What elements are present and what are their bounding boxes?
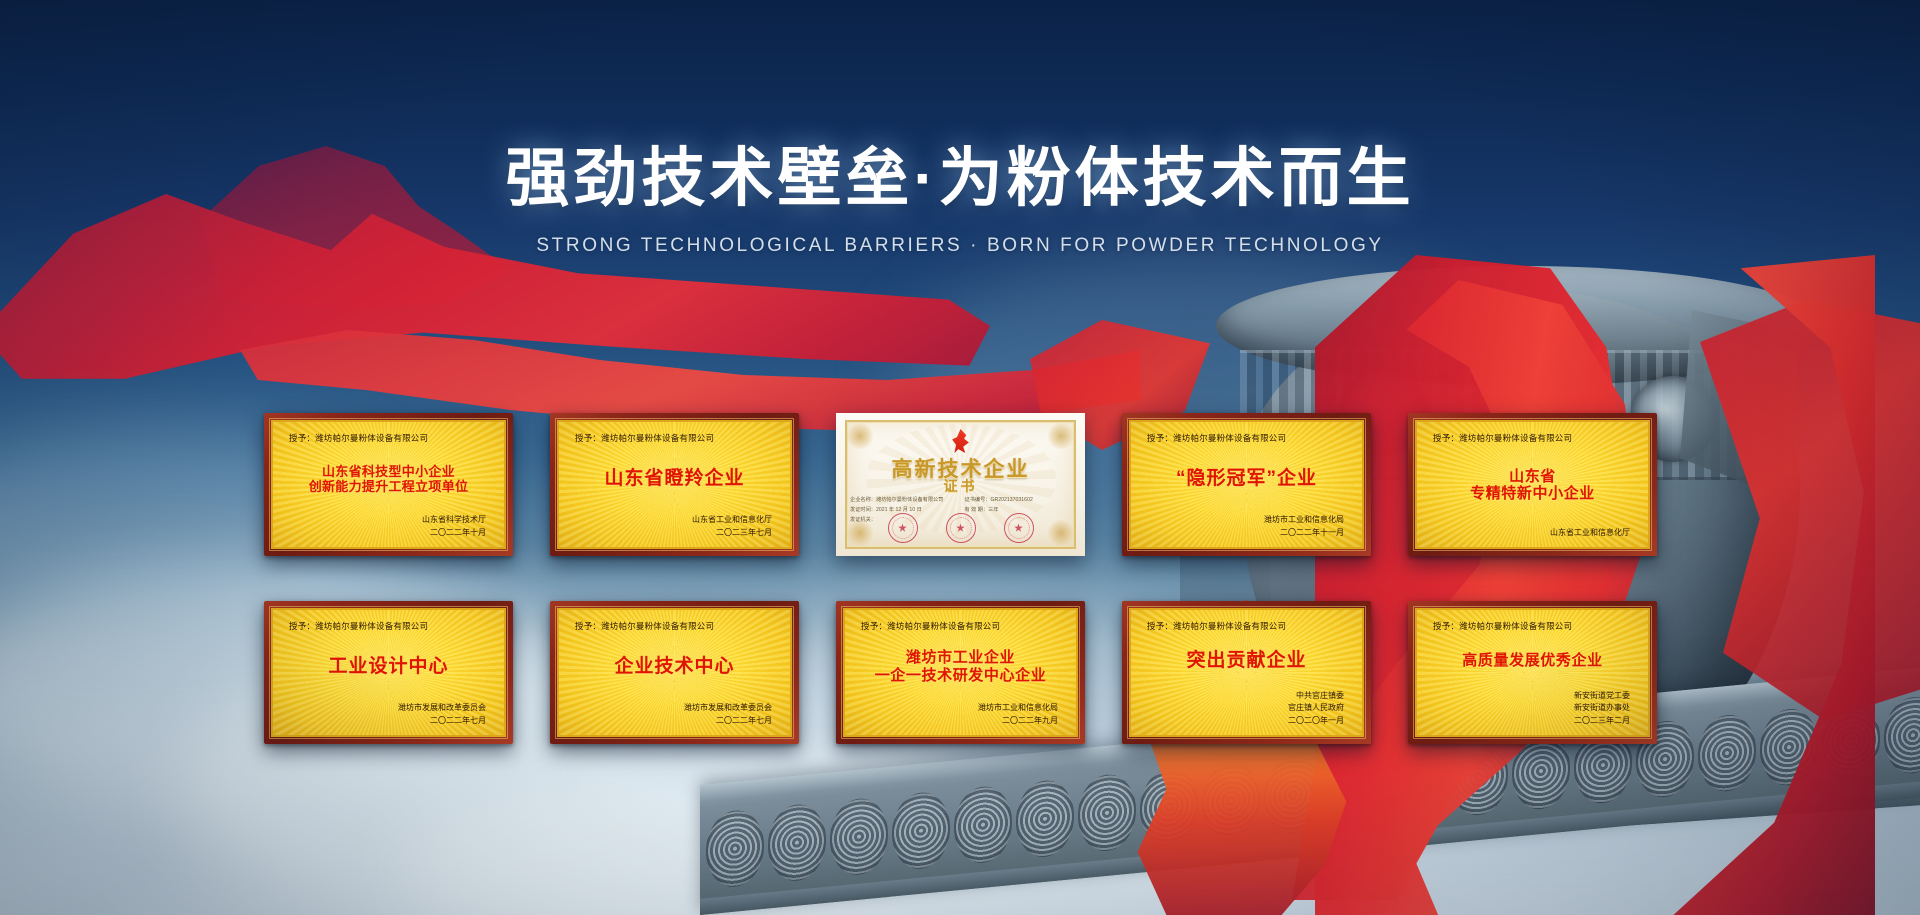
plaque-award-line: 授予：潍坊帕尔曼粉体设备有限公司: [1433, 432, 1636, 444]
plaque-issuer-block: 潍坊市发展和改革委员会 二〇二二年七月: [571, 702, 778, 727]
plaque-title: 山东省 专精特新中小企业: [1429, 444, 1636, 527]
plaque-title: 突出贡献企业: [1143, 632, 1350, 690]
plaque-issuer-block: 新安街道党工委 新安街道办事处 二〇二三年二月: [1429, 690, 1636, 727]
plaque-card[interactable]: 授予：潍坊帕尔曼粉体设备有限公司 工业设计中心 潍坊市发展和改革委员会 二〇二二…: [264, 601, 513, 744]
plaque-issuer-block: 潍坊市发展和改革委员会 二〇二二年七月: [285, 702, 492, 727]
plaque-award-line: 授予：潍坊帕尔曼粉体设备有限公司: [289, 620, 492, 632]
plaque-title: 山东省科技型中小企业 创新能力提升工程立项单位: [285, 444, 492, 514]
official-seal-icon: [946, 513, 976, 543]
plaque-award-line: 授予：潍坊帕尔曼粉体设备有限公司: [575, 432, 778, 444]
plaque-issuer-block: 潍坊市工业和信息化局 二〇二二年九月: [857, 702, 1064, 727]
plaque-title: 企业技术中心: [571, 632, 778, 702]
banner-title: 强劲技术壁垒·为粉体技术而生: [0, 140, 1920, 217]
corner-ornament-icon: [1048, 423, 1074, 449]
banner-heading-block: 强劲技术壁垒·为粉体技术而生 STRONG TECHNOLOGICAL BARR…: [0, 0, 1920, 257]
plaque-card[interactable]: 授予：潍坊帕尔曼粉体设备有限公司 潍坊市工业企业 一企一技术研发中心企业 潍坊市…: [836, 601, 1085, 744]
plaque-row-1: 授予：潍坊帕尔曼粉体设备有限公司 山东省科技型中小企业 创新能力提升工程立项单位…: [264, 413, 1664, 556]
plaque-title: “隐形冠军”企业: [1143, 444, 1350, 514]
certificate-seals: [836, 513, 1085, 543]
plaque-card[interactable]: 授予：潍坊帕尔曼粉体设备有限公司 突出贡献企业 中共官庄镇委 官庄镇人民政府 二…: [1122, 601, 1371, 744]
plaque-card[interactable]: 授予：潍坊帕尔曼粉体设备有限公司 “隐形冠军”企业 潍坊市工业和信息化局 二〇二…: [1122, 413, 1371, 556]
plaque-award-line: 授予：潍坊帕尔曼粉体设备有限公司: [1147, 620, 1350, 632]
plaque-award-line: 授予：潍坊帕尔曼粉体设备有限公司: [575, 620, 778, 632]
plaque-title: 高质量发展优秀企业: [1429, 632, 1636, 690]
plaque-issuer-block: 山东省科学技术厅 二〇二二年十月: [285, 514, 492, 539]
plaque-award-line: 授予：潍坊帕尔曼粉体设备有限公司: [289, 432, 492, 444]
plaque-card[interactable]: 授予：潍坊帕尔曼粉体设备有限公司 企业技术中心 潍坊市发展和改革委员会 二〇二二…: [550, 601, 799, 744]
plaque-row-2: 授予：潍坊帕尔曼粉体设备有限公司 工业设计中心 潍坊市发展和改革委员会 二〇二二…: [264, 601, 1664, 744]
plaque-issuer-block: 山东省工业和信息化厅: [1429, 527, 1636, 539]
plaque-card[interactable]: 授予：潍坊帕尔曼粉体设备有限公司 高质量发展优秀企业 新安街道党工委 新安街道办…: [1408, 601, 1657, 744]
honor-plaque-grid: 授予：潍坊帕尔曼粉体设备有限公司 山东省科技型中小企业 创新能力提升工程立项单位…: [264, 413, 1664, 789]
plaque-issuer-block: 中共官庄镇委 官庄镇人民政府 二〇二〇年一月: [1143, 690, 1350, 727]
corner-ornament-icon: [847, 423, 873, 449]
plaque-award-line: 授予：潍坊帕尔曼粉体设备有限公司: [1147, 432, 1350, 444]
certificate-subtitle: 证书: [836, 476, 1085, 496]
plaque-card[interactable]: 授予：潍坊帕尔曼粉体设备有限公司 山东省瞪羚企业 山东省工业和信息化厅 二〇二三…: [550, 413, 799, 556]
plaque-issuer-block: 潍坊市工业和信息化局 二〇二二年十一月: [1143, 514, 1350, 539]
plaque-award-line: 授予：潍坊帕尔曼粉体设备有限公司: [1433, 620, 1636, 632]
plaque-award-line: 授予：潍坊帕尔曼粉体设备有限公司: [861, 620, 1064, 632]
banner-subtitle: STRONG TECHNOLOGICAL BARRIERS · BORN FOR…: [0, 235, 1920, 257]
plaque-title: 潍坊市工业企业 一企一技术研发中心企业: [857, 632, 1064, 702]
plaque-issuer-block: 山东省工业和信息化厅 二〇二三年七月: [571, 514, 778, 539]
plaque-title: 山东省瞪羚企业: [571, 444, 778, 514]
plaque-card[interactable]: 授予：潍坊帕尔曼粉体设备有限公司 山东省科技型中小企业 创新能力提升工程立项单位…: [264, 413, 513, 556]
official-seal-icon: [888, 513, 918, 543]
plaque-title: 工业设计中心: [285, 632, 492, 702]
high-tech-enterprise-certificate[interactable]: 高新技术企业 证书 企业名称：潍坊帕尔曼粉体设备有限公司 证书编号：GR2021…: [836, 413, 1085, 556]
plaque-card[interactable]: 授予：潍坊帕尔曼粉体设备有限公司 山东省 专精特新中小企业 山东省工业和信息化厅: [1408, 413, 1657, 556]
promo-banner: 强劲技术壁垒·为粉体技术而生 STRONG TECHNOLOGICAL BARR…: [0, 0, 1920, 915]
official-seal-icon: [1004, 513, 1034, 543]
